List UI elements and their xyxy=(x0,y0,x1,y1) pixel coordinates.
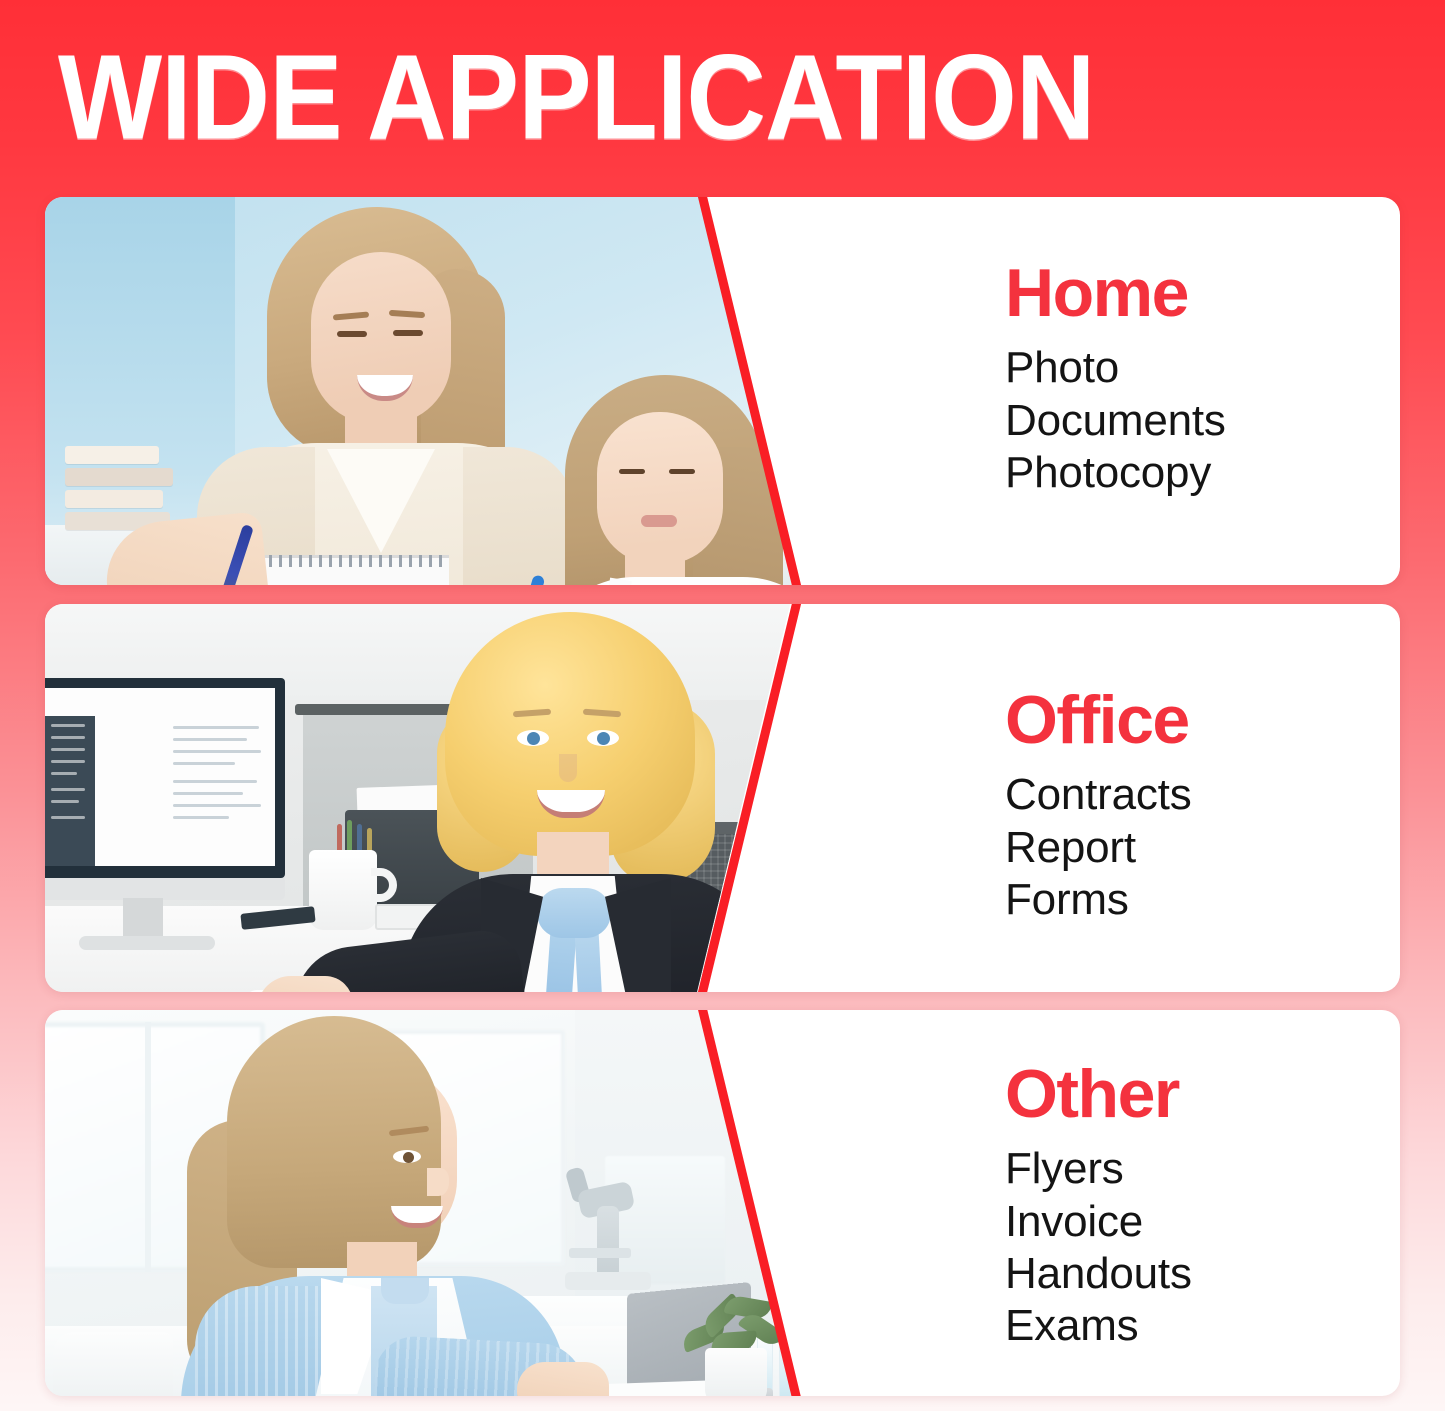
card-text-home: Home Photo Documents Photocopy xyxy=(945,197,1400,585)
mug-icon xyxy=(309,850,377,930)
list-item: Contracts xyxy=(1005,769,1400,821)
list-item: Report xyxy=(1005,822,1400,874)
card-image-office xyxy=(45,604,875,992)
card-title-office: Office xyxy=(1005,686,1400,755)
scene-other xyxy=(45,1010,875,1396)
microscope-icon xyxy=(565,1272,651,1290)
list-item: Invoice xyxy=(1005,1196,1400,1248)
card-text-other: Other Flyers Invoice Handouts Exams xyxy=(945,1010,1400,1396)
application-card-other: Other Flyers Invoice Handouts Exams xyxy=(45,1010,1400,1396)
list-item: Forms xyxy=(1005,874,1400,926)
page-title: WIDE APPLICATION xyxy=(58,40,1238,155)
list-item: Photocopy xyxy=(1005,447,1400,499)
card-title-home: Home xyxy=(1005,259,1400,328)
list-item: Photo xyxy=(1005,342,1400,394)
scene-home xyxy=(45,197,875,585)
card-image-other xyxy=(45,1010,875,1396)
list-item: Exams xyxy=(1005,1300,1400,1352)
application-card-office: Office Contracts Report Forms xyxy=(45,604,1400,992)
card-list-office: Contracts Report Forms xyxy=(1005,769,1400,926)
card-image-home xyxy=(45,197,875,585)
list-item: Documents xyxy=(1005,395,1400,447)
card-title-other: Other xyxy=(1005,1060,1400,1129)
scene-office xyxy=(45,604,875,992)
card-list-other: Flyers Invoice Handouts Exams xyxy=(1005,1143,1400,1352)
page-title-text: WIDE APPLICATION xyxy=(58,37,1094,158)
card-list-home: Photo Documents Photocopy xyxy=(1005,342,1400,499)
books-stack-icon xyxy=(65,410,175,530)
list-item: Flyers xyxy=(1005,1143,1400,1195)
list-item: Handouts xyxy=(1005,1248,1400,1300)
card-text-office: Office Contracts Report Forms xyxy=(945,604,1400,992)
application-card-home: Home Photo Documents Photocopy xyxy=(45,197,1400,585)
